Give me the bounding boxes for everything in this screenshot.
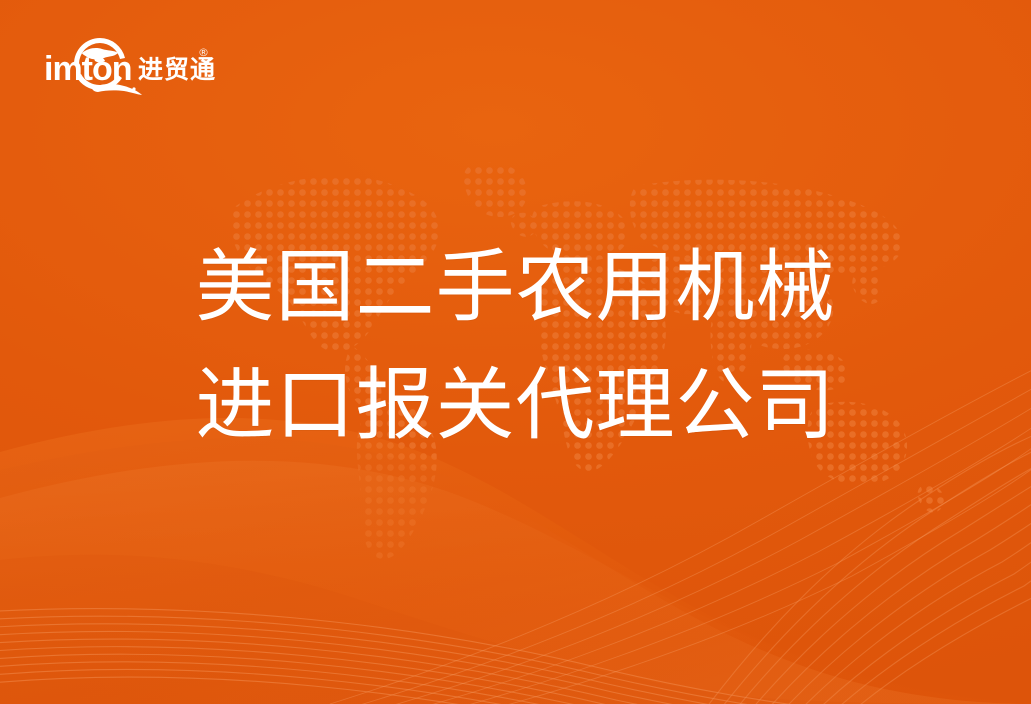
headline-block: 美国二手农用机械 进口报关代理公司: [0, 228, 1031, 464]
registered-trademark-icon: ®: [198, 46, 209, 59]
logo-chinese-name: 进贸通: [138, 55, 216, 84]
logo-svg: imton 进贸通 ®: [38, 26, 218, 102]
headline-line-2: 进口报关代理公司: [0, 346, 1031, 464]
promotional-banner: imton 进贸通 ® 美国二手农用机械 进口报关代理公司: [0, 0, 1031, 704]
logo-wordmark: imton: [44, 50, 132, 88]
headline-line-1: 美国二手农用机械: [0, 228, 1031, 346]
imton-logo[interactable]: imton 进贸通 ®: [38, 26, 218, 102]
dragon-eye: [132, 87, 135, 90]
